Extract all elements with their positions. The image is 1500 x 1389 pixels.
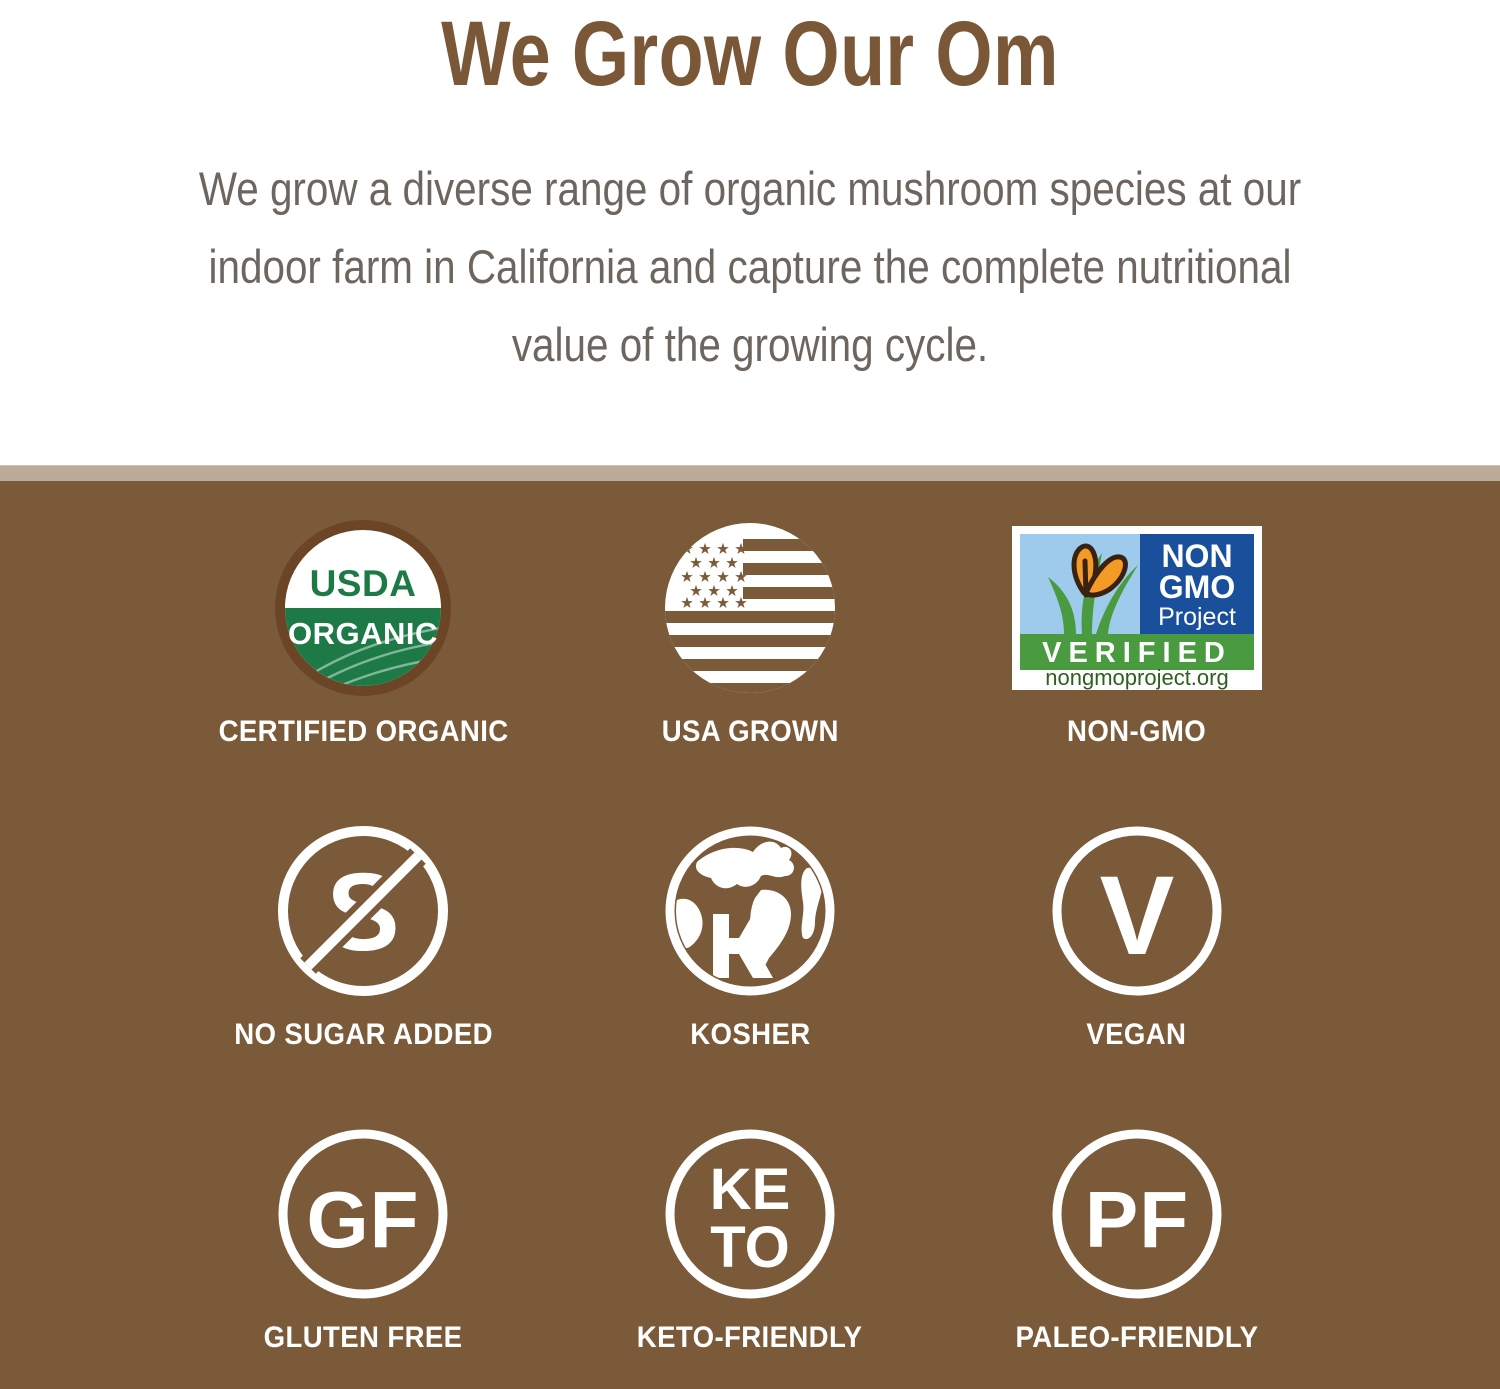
badge-caption: KOSHER (690, 1018, 810, 1052)
gluten-free-gf-icon: GF (270, 1121, 456, 1307)
kosher-globe-icon (657, 818, 843, 1004)
badge-no-sugar-added: S NO SUGAR ADDED (170, 784, 557, 1087)
badge-caption: VEGAN (1087, 1018, 1187, 1052)
badge-caption: CERTIFIED ORGANIC (218, 715, 508, 749)
svg-text:USDA: USDA (310, 563, 417, 604)
vegan-v-icon: V (1044, 818, 1230, 1004)
badge-caption: KETO-FRIENDLY (637, 1321, 863, 1355)
nongmo-line2: GMO (1158, 569, 1234, 605)
badge-kosher: KOSHER (557, 784, 944, 1087)
paleo-friendly-pf-icon: PF (1044, 1121, 1230, 1307)
badge-gluten-free: GF GLUTEN FREE (170, 1086, 557, 1389)
badge-caption: USA GROWN (661, 715, 838, 749)
promo-panel: We Grow Our Om We grow a diverse range o… (0, 0, 1500, 1389)
svg-text:PF: PF (1085, 1175, 1189, 1264)
keto-line1: KE (710, 1157, 791, 1222)
badge-caption: GLUTEN FREE (264, 1321, 463, 1355)
svg-text:GF: GF (307, 1175, 420, 1264)
badge-paleo-friendly: PF PALEO-FRIENDLY (943, 1086, 1330, 1389)
badge-non-gmo: NON GMO Project VERIFIED nongmoproject.o… (943, 481, 1330, 784)
usa-flag-circle-icon (657, 515, 843, 701)
nongmo-url: nongmoproject.org (1045, 665, 1228, 690)
keto-friendly-icon: KE TO (657, 1121, 843, 1307)
badge-grid: USDA ORGANIC CERTIFIED ORGANIC (170, 481, 1330, 1389)
section-divider (0, 465, 1500, 482)
keto-line2: TO (710, 1215, 790, 1280)
svg-text:ORGANIC: ORGANIC (288, 616, 438, 651)
badge-caption: NO SUGAR ADDED (234, 1018, 493, 1052)
badge-caption: PALEO-FRIENDLY (1015, 1321, 1258, 1355)
badge-keto-friendly: KE TO KETO-FRIENDLY (557, 1086, 944, 1389)
nongmo-line3: Project (1158, 603, 1236, 631)
certification-badges-section: USDA ORGANIC CERTIFIED ORGANIC (0, 481, 1500, 1389)
intro-section: We Grow Our Om We grow a diverse range o… (0, 0, 1500, 465)
badge-certified-organic: USDA ORGANIC CERTIFIED ORGANIC (170, 481, 557, 784)
intro-body-text: We grow a diverse range of organic mushr… (195, 150, 1304, 384)
non-gmo-project-verified-icon: NON GMO Project VERIFIED nongmoproject.o… (1009, 515, 1265, 701)
no-sugar-added-icon: S (270, 818, 456, 1004)
badge-usa-grown: USA GROWN (557, 481, 944, 784)
badge-caption: NON-GMO (1067, 715, 1206, 749)
page-title: We Grow Our Om (150, 4, 1350, 104)
badge-vegan: V VEGAN (943, 784, 1330, 1087)
usda-organic-seal-icon: USDA ORGANIC (270, 515, 456, 701)
svg-text:V: V (1099, 853, 1174, 978)
